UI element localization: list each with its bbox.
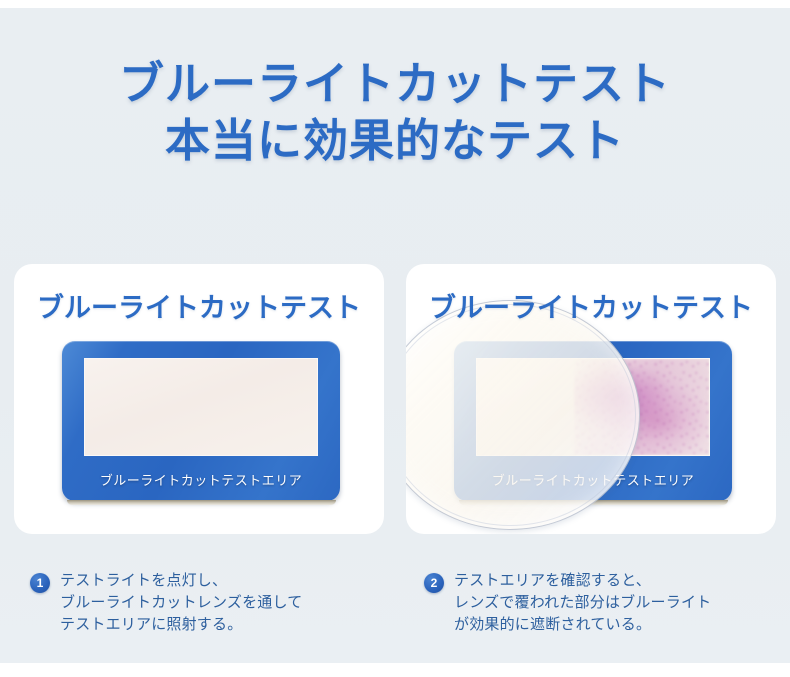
step-caption-text-2: テストエリアを確認すると、 レンズで覆われた部分はブルーライト が効果的に遮断さ… — [454, 570, 711, 637]
test-card-after: ブルーライトカットテスト ブルーライトカットテストエリア — [406, 264, 776, 534]
card-title-before: ブルーライトカットテスト — [14, 286, 384, 325]
tester-device-before: ブルーライトカットテストエリア — [62, 341, 340, 501]
step-number-badge-2: 2 — [424, 573, 444, 593]
step-caption-2: 2 テストエリアを確認すると、 レンズで覆われた部分はブルーライト が効果的に遮… — [424, 570, 774, 637]
test-card-before: ブルーライトカットテスト ブルーライトカットテストエリア — [14, 264, 384, 534]
test-area-window-before — [84, 358, 318, 456]
step-caption-text-1: テストライトを点灯し、 ブルーライトカットレンズを通して テストエリアに照射する… — [60, 570, 302, 637]
page-title-line-2: 本当に効果的なテスト — [0, 115, 790, 168]
step-number-badge-1: 1 — [30, 573, 50, 593]
page-title: ブルーライトカットテスト 本当に効果的なテスト — [0, 58, 790, 168]
device-label-before: ブルーライトカットテストエリア — [62, 470, 340, 489]
card-title-after: ブルーライトカットテスト — [406, 286, 776, 325]
page-root: ブルーライトカットテスト 本当に効果的なテスト ブルーライトカットテスト ブルー… — [0, 0, 790, 677]
page-title-line-1: ブルーライトカットテスト — [0, 58, 790, 111]
step-caption-1: 1 テストライトを点灯し、 ブルーライトカットレンズを通して テストエリアに照射… — [30, 570, 380, 637]
